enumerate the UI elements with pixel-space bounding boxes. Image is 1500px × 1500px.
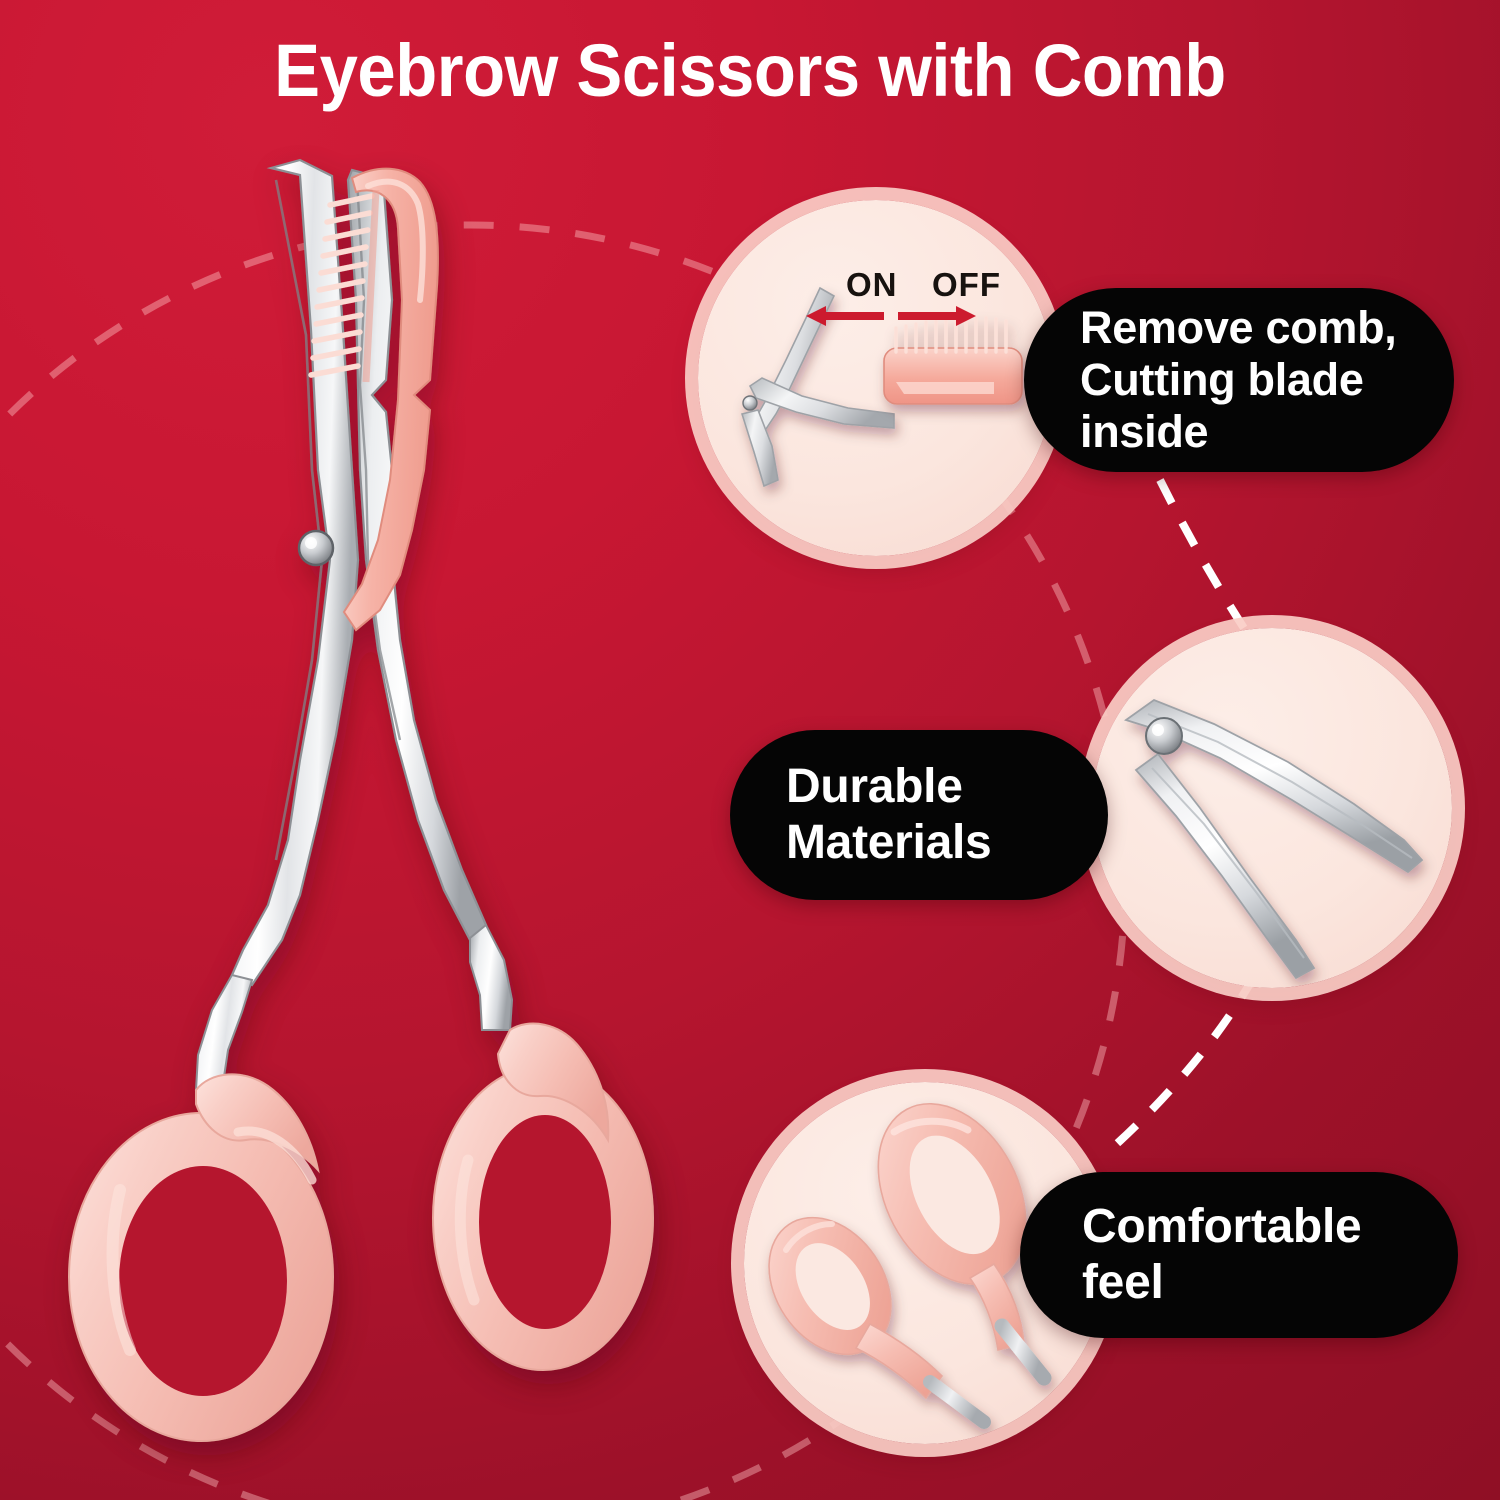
- off-label: OFF: [932, 266, 1001, 304]
- connector-1-to-2: [1160, 480, 1255, 645]
- connector-2-to-3: [1110, 975, 1255, 1150]
- callout-inset-remove-comb: ON OFF: [698, 200, 1054, 556]
- inset-illustration-remove-comb: [698, 200, 1054, 556]
- callout-line: Durable: [786, 759, 991, 815]
- callout-line: Cutting blade: [1080, 354, 1397, 406]
- callout-line: feel: [1082, 1255, 1361, 1311]
- callout-label-comfortable-feel[interactable]: Comfortable feel: [1020, 1172, 1458, 1338]
- page-title: Eyebrow Scissors with Comb: [53, 34, 1448, 108]
- callout-inset-durable-materials: [1092, 628, 1452, 988]
- callout-line: Materials: [786, 815, 991, 871]
- callout-label-remove-comb[interactable]: Remove comb, Cutting blade inside: [1024, 288, 1454, 472]
- inset-illustration-durable-materials: [1092, 628, 1452, 988]
- callout-line: inside: [1080, 406, 1397, 458]
- callout-line: Remove comb,: [1080, 302, 1397, 354]
- on-label: ON: [846, 266, 898, 304]
- callout-label-durable-materials[interactable]: Durable Materials: [730, 730, 1108, 900]
- product-infographic: Eyebrow Scissors with Comb: [0, 0, 1500, 1500]
- callout-line: Comfortable: [1082, 1199, 1361, 1255]
